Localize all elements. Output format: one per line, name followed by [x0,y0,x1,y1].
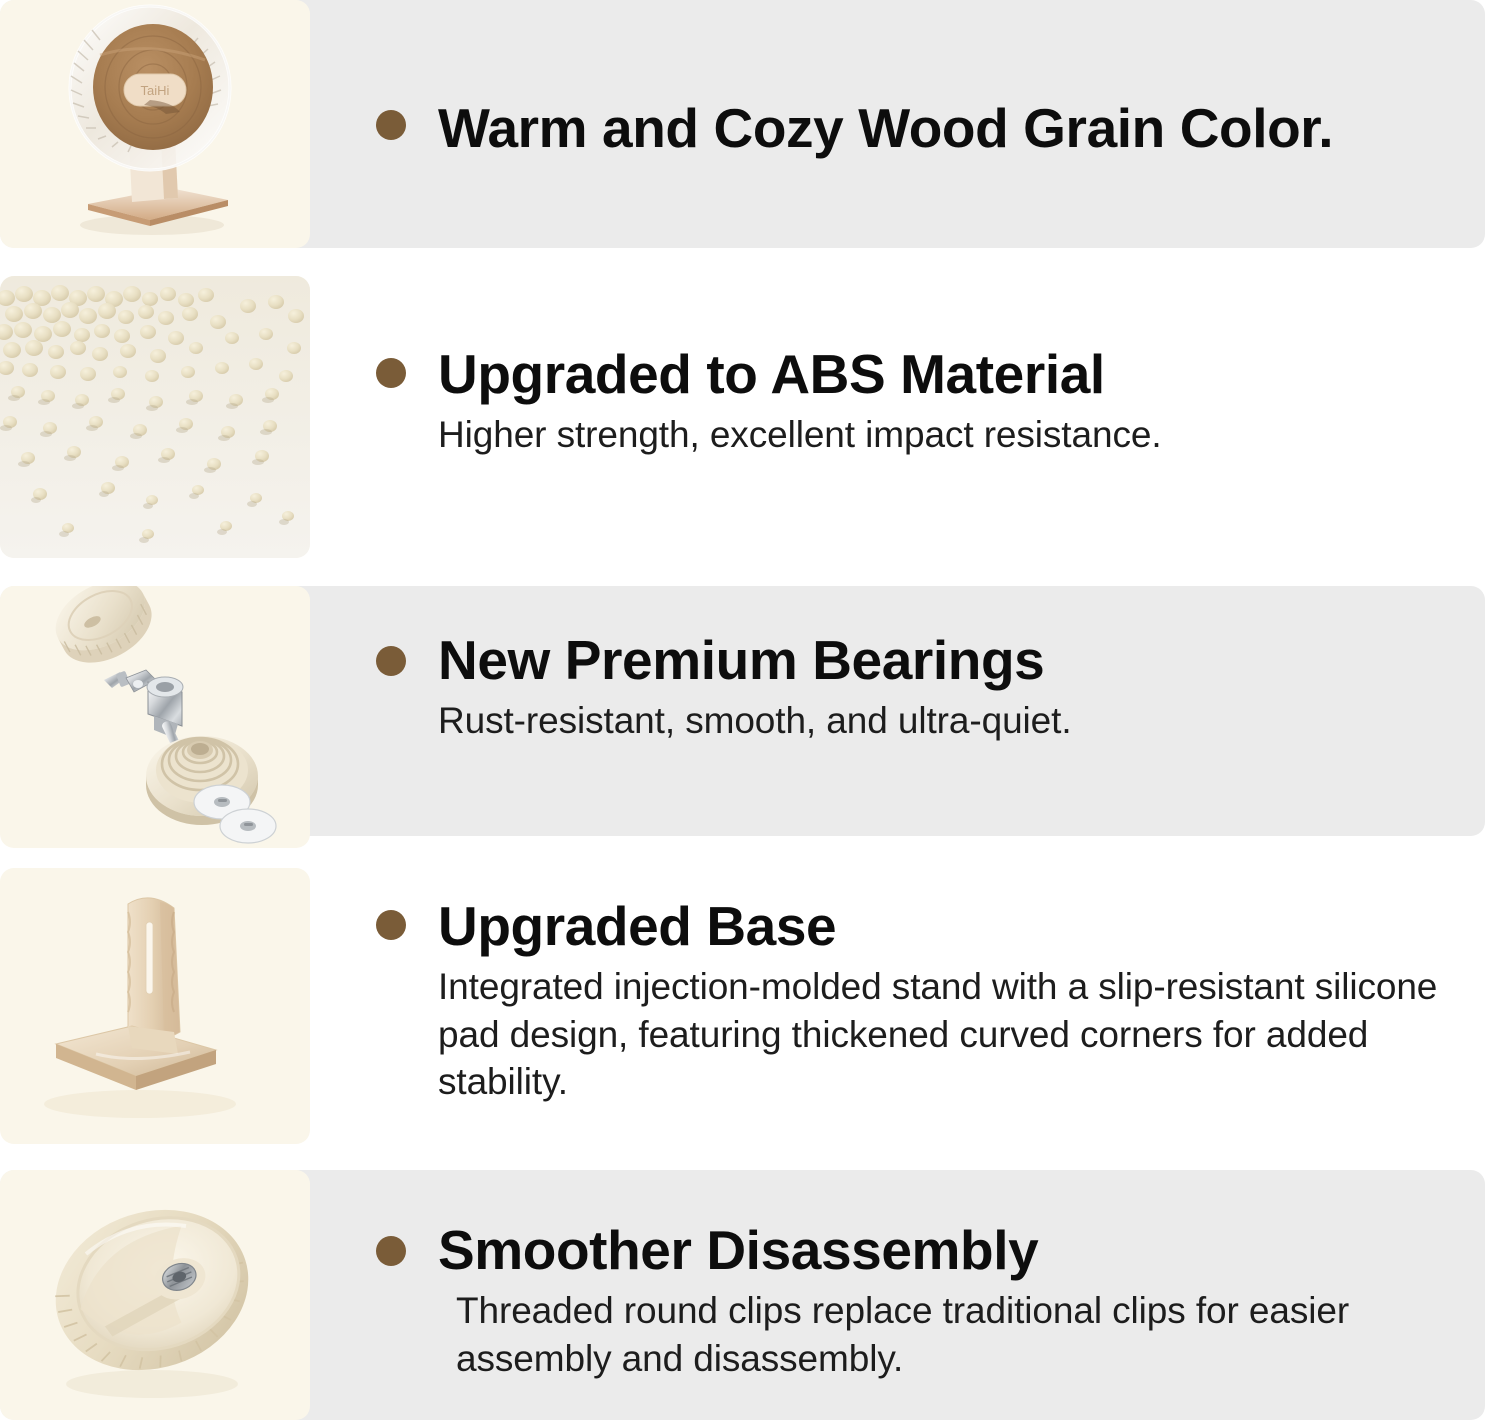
feature-row: Smoother Disassembly Threaded round clip… [0,1170,1500,1420]
feature-heading: Warm and Cozy Wood Grain Color. [438,100,1470,157]
feature-list-page: TaiHi Warm and Cozy Wood Grain Color. [0,0,1500,1420]
feature-copy: Upgraded Base Integrated injection-molde… [376,898,1470,1105]
feature-row: New Premium Bearings Rust-resistant, smo… [0,586,1500,836]
feature-thumbnail-wheel-with-threaded-hub [0,1170,310,1420]
feature-copy: Upgraded to ABS Material Higher strength… [376,346,1470,459]
feature-thumbnail-exploded-bearing-assembly [0,586,310,848]
feature-copy: Warm and Cozy Wood Grain Color. [376,100,1470,157]
wheel-with-threaded-hub-icon [0,1170,310,1420]
exploded-bearing-assembly-icon [0,586,310,848]
feature-thumbnail-abs-plastic-pellets [0,276,310,558]
feature-heading: New Premium Bearings [438,632,1470,689]
bullet-dot-icon [376,910,406,940]
feature-thumbnail-hamster-wheel-on-stand-wood-grain: TaiHi [0,0,310,248]
feature-copy: Smoother Disassembly Threaded round clip… [376,1222,1470,1382]
feature-copy: New Premium Bearings Rust-resistant, smo… [376,632,1470,745]
feature-row: Upgraded to ABS Material Higher strength… [0,248,1500,586]
feature-heading: Upgraded Base [438,898,1470,955]
abs-plastic-pellets-icon [0,276,310,558]
svg-text:TaiHi: TaiHi [141,83,170,98]
feature-description: Rust-resistant, smooth, and ultra-quiet. [438,697,1470,745]
feature-row: TaiHi Warm and Cozy Wood Grain Color. [0,0,1500,248]
injection-molded-stand-base-icon [0,868,310,1144]
feature-description: Threaded round clips replace traditional… [456,1287,1386,1382]
feature-heading: Upgraded to ABS Material [438,346,1470,403]
feature-description: Higher strength, excellent impact resist… [438,411,1470,459]
feature-description: Integrated injection-molded stand with a… [438,963,1470,1105]
bullet-dot-icon [376,646,406,676]
feature-row: Upgraded Base Integrated injection-molde… [0,836,1500,1170]
bullet-dot-icon [376,110,406,140]
feature-heading: Smoother Disassembly [438,1222,1470,1279]
bullet-dot-icon [376,1236,406,1266]
feature-thumbnail-injection-molded-stand-base [0,868,310,1144]
hamster-wheel-on-stand-wood-grain-icon: TaiHi [0,0,310,248]
bullet-dot-icon [376,358,406,388]
